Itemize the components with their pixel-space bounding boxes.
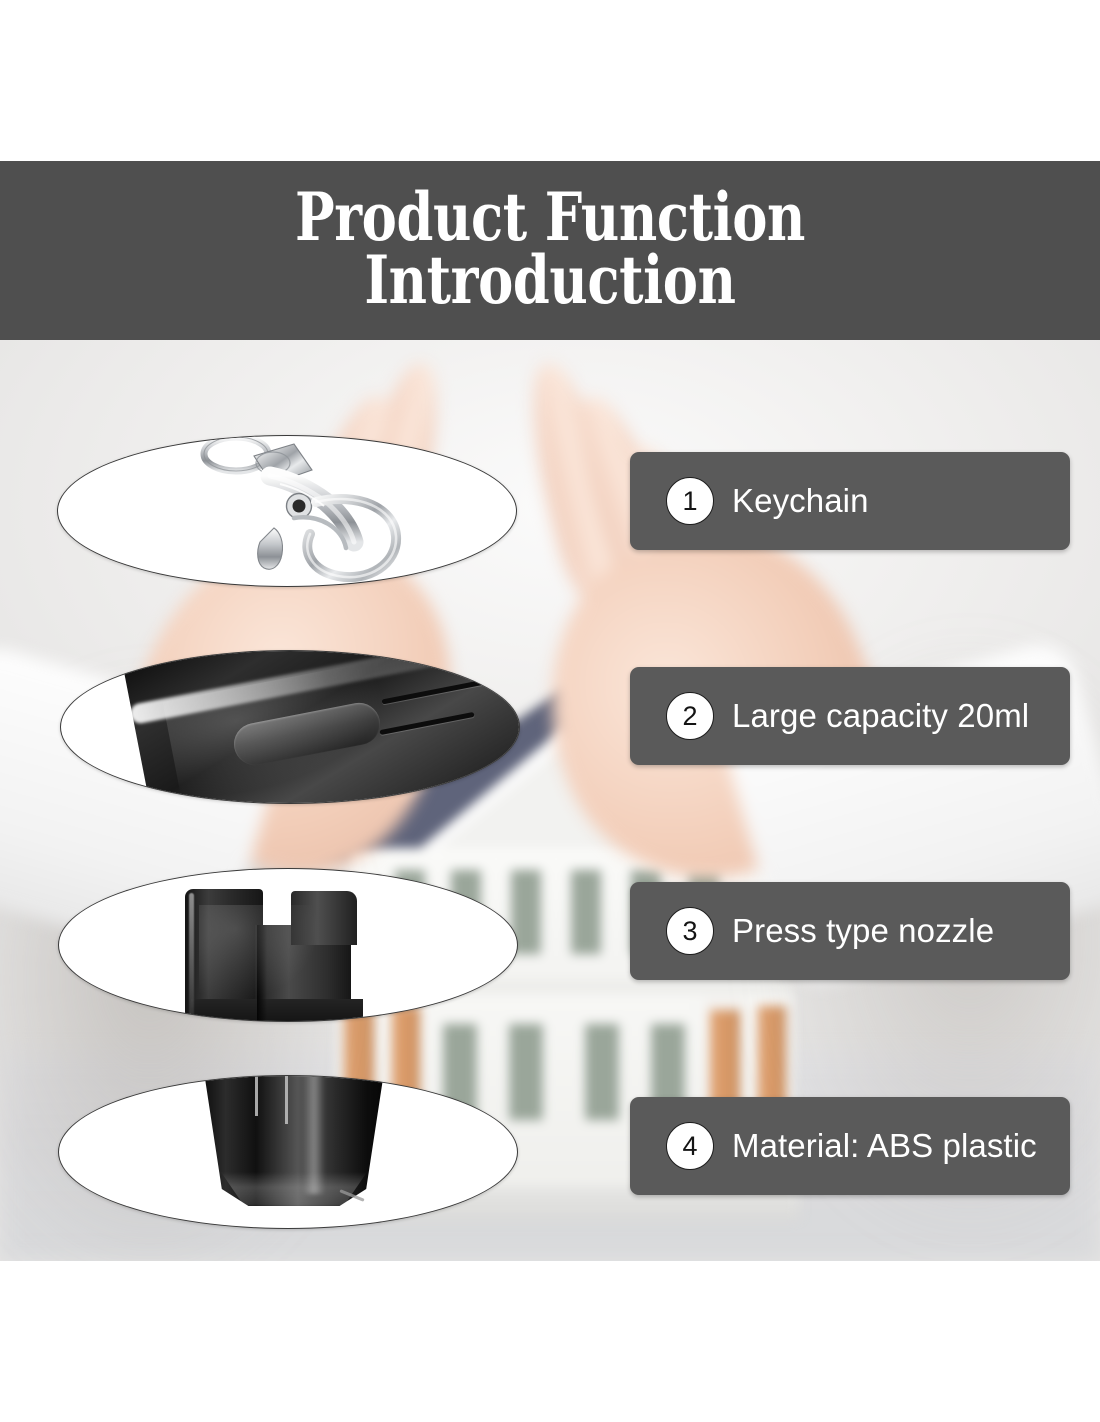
- detail-oval-bottle-base: [58, 1075, 518, 1229]
- feature-number-badge-1: 1: [666, 477, 714, 525]
- feature-label-2[interactable]: 2 Large capacity 20ml: [630, 667, 1070, 765]
- bottle-base-reflection: [211, 1172, 377, 1206]
- keychain-closeup-image: [58, 436, 516, 586]
- detail-oval-bottle-body: [60, 650, 520, 804]
- bottle-base-slot: [285, 1075, 288, 1124]
- feature-label-text-3: Press type nozzle: [732, 912, 994, 950]
- left-hand: [60, 350, 580, 910]
- nozzle-sheen: [199, 905, 319, 1001]
- page-title: Product Function Introduction: [110, 186, 990, 311]
- detail-oval-press-nozzle: [58, 868, 518, 1022]
- house-column-cap: [704, 998, 746, 1010]
- detail-oval-keychain: [57, 435, 517, 587]
- feature-number-badge-2: 2: [666, 692, 714, 740]
- feature-label-text-2: Large capacity 20ml: [732, 697, 1029, 735]
- feature-label-text-4: Material: ABS plastic: [732, 1127, 1037, 1165]
- feature-label-1[interactable]: 1 Keychain: [630, 452, 1070, 550]
- press-nozzle-closeup-image: [59, 869, 517, 1021]
- infographic-canvas: Product Function Introduction: [0, 0, 1100, 1422]
- bottle-base-slot: [255, 1075, 258, 1116]
- feature-number-badge-4: 4: [666, 1122, 714, 1170]
- feature-label-3[interactable]: 3 Press type nozzle: [630, 882, 1070, 980]
- header-banner: Product Function Introduction: [0, 161, 1100, 340]
- bottle-base-closeup-image: [59, 1076, 517, 1228]
- feature-label-text-1: Keychain: [732, 482, 869, 520]
- right-hand: [520, 350, 1080, 950]
- nozzle-edge-highlight: [189, 893, 194, 1019]
- feature-number-badge-3: 3: [666, 907, 714, 955]
- house-window: [582, 1024, 622, 1120]
- nozzle-collar: [191, 999, 363, 1022]
- feature-label-4[interactable]: 4 Material: ABS plastic: [630, 1097, 1070, 1195]
- product-scene-photo: 1 Keychain 2 Large capacity 20ml 3 Press…: [0, 340, 1100, 1261]
- bottle-body-closeup-image: [61, 651, 519, 803]
- bottle-base-highlight: [303, 1075, 325, 1194]
